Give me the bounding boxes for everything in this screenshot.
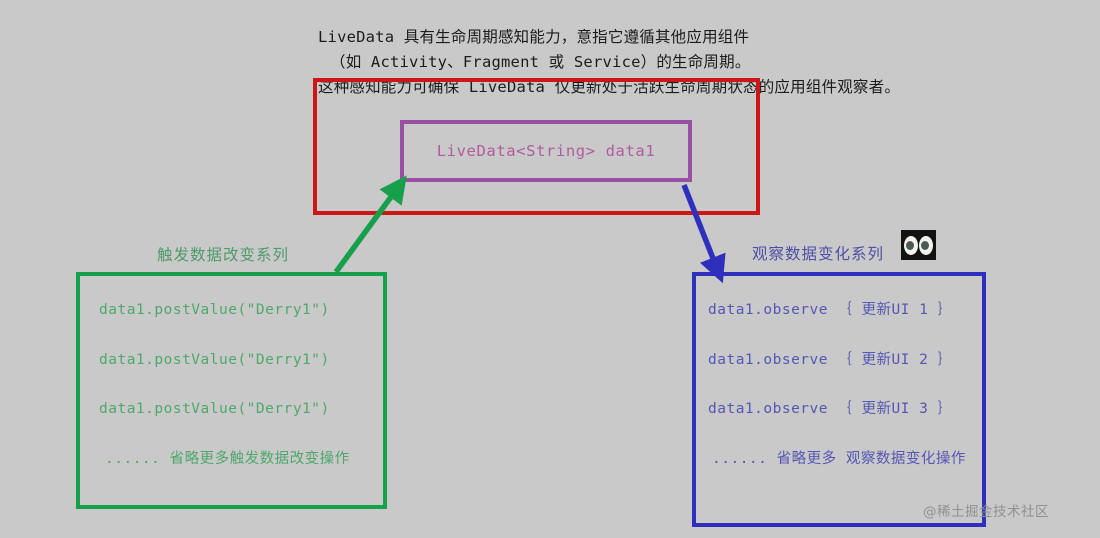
trigger-code-lines: data1.postValue("Derry1") data1.postValu…	[80, 276, 383, 466]
livedata-declaration-box: LiveData<String> data1	[400, 120, 692, 182]
watermark: @稀土掘金技术社区	[923, 500, 1049, 520]
trigger-code-ellipsis-note: ...... 省略更多触发数据改变操作	[80, 452, 383, 467]
observe-code-line: data1.observe ｛ 更新UI 1 ｝	[696, 303, 982, 318]
header-line-2: （如 Activity、Fragment 或 Service）的生命周期。	[318, 50, 1078, 75]
observe-code-line: data1.observe ｛ 更新UI 2 ｝	[696, 353, 982, 368]
observe-code-lines: data1.observe ｛ 更新UI 1 ｝ data1.observe ｛…	[696, 276, 982, 466]
observe-code-line: data1.observe ｛ 更新UI 3 ｝	[696, 402, 982, 417]
eyes-icon-left	[904, 236, 918, 255]
trigger-code-box: data1.postValue("Derry1") data1.postValu…	[76, 272, 387, 509]
diagram-canvas: LiveData 具有生命周期感知能力，意指它遵循其他应用组件 （如 Activ…	[0, 0, 1100, 538]
observe-code-box: data1.observe ｛ 更新UI 1 ｝ data1.observe ｛…	[692, 272, 986, 527]
right-section-caption: 观察数据变化系列	[752, 242, 884, 264]
header-line-1: LiveData 具有生命周期感知能力，意指它遵循其他应用组件	[318, 25, 1078, 50]
trigger-code-line: data1.postValue("Derry1")	[80, 402, 383, 417]
eyes-icon	[901, 230, 936, 260]
livedata-declaration-label: LiveData<String> data1	[437, 142, 656, 160]
left-section-caption: 触发数据改变系列	[157, 243, 289, 265]
trigger-code-line: data1.postValue("Derry1")	[80, 353, 383, 368]
eyes-icon-right	[919, 236, 933, 255]
observe-code-ellipsis-note: ...... 省略更多 观察数据变化操作	[696, 452, 982, 467]
trigger-code-line: data1.postValue("Derry1")	[80, 303, 383, 318]
